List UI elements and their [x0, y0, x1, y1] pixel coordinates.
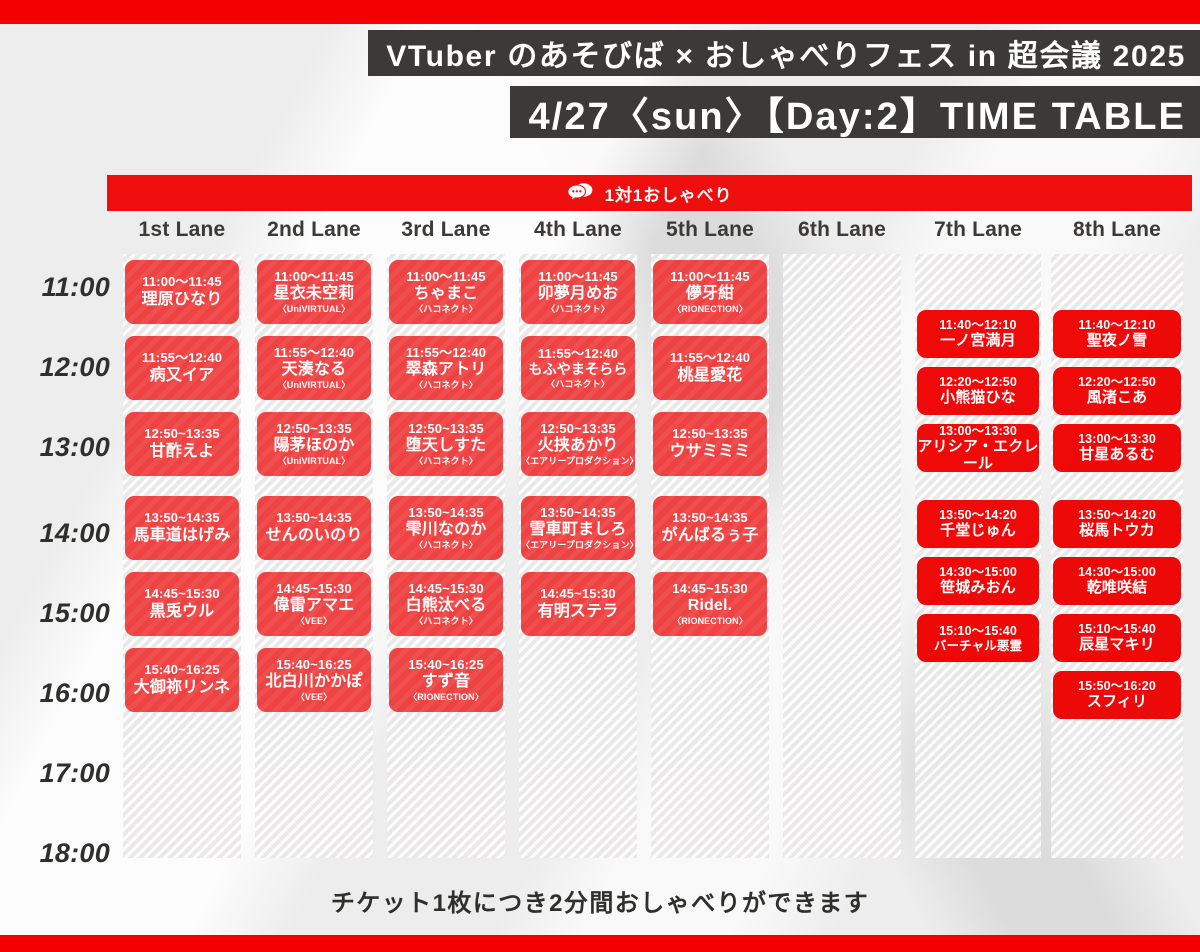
schedule-card[interactable]: 13:50~14:35雫川なのか〈ハコネクト〉: [389, 496, 503, 560]
timetable-poster: VTuber のあそびば × おしゃべりフェス in 超会議 2025 4/27…: [0, 0, 1200, 952]
card-time: 13:50～14:20: [1078, 508, 1156, 522]
lane-header-1: 1st Lane: [116, 218, 248, 250]
card-group-label: 〈RIONECTION〉: [672, 304, 748, 314]
time-axis-label: 12:00: [0, 352, 110, 383]
schedule-card[interactable]: 11:55～12:40桃星愛花: [653, 336, 767, 400]
lane-header-3: 3rd Lane: [380, 218, 512, 250]
card-time: 15:10～15:40: [939, 624, 1017, 638]
lane-header-4: 4th Lane: [512, 218, 644, 250]
card-group-label: 〈UniVIRTUAL〉: [278, 380, 351, 390]
card-group-label: 〈エアリープロダクション〉: [521, 540, 635, 550]
banner-label: 1対1おしゃべり: [605, 181, 733, 206]
card-group-label: 〈ハコネクト〉: [546, 379, 610, 389]
card-time: 12:50~13:35: [672, 427, 748, 442]
schedule-card[interactable]: 11:00～11:45星衣未空莉〈UniVIRTUAL〉: [257, 260, 371, 324]
event-title: VTuber のあそびば × おしゃべりフェス in 超会議 2025: [368, 30, 1200, 76]
lane-header-7: 7th Lane: [908, 218, 1048, 250]
timetable-grid: 11:0012:0013:0014:0015:0016:0017:0018:00…: [0, 218, 1200, 868]
card-performer-name: 偉雷アマエ: [274, 597, 355, 615]
schedule-card[interactable]: 11:40～12:10聖夜ノ雪: [1053, 310, 1181, 358]
card-performer-name: 黒兎ウル: [150, 603, 215, 621]
schedule-card[interactable]: 13:50~14:35せんのいのり: [257, 496, 371, 560]
schedule-card[interactable]: 11:00～11:45理原ひなり: [125, 260, 239, 324]
one-on-one-banner: 1対1おしゃべり: [107, 175, 1192, 211]
card-time: 13:50~14:35: [672, 511, 748, 526]
card-performer-name: がんばるぅ子: [662, 527, 759, 545]
card-performer-name: 一ノ宮満月: [940, 333, 1016, 350]
schedule-card[interactable]: 12:50~13:35ウサミミミ: [653, 412, 767, 476]
card-time: 11:55～12:40: [142, 351, 222, 366]
lane-header-5: 5th Lane: [644, 218, 776, 250]
lane-header-8: 8th Lane: [1044, 218, 1190, 250]
card-performer-name: 雫川なのか: [406, 521, 487, 539]
schedule-card[interactable]: 13:00～13:30甘星あるむ: [1053, 424, 1181, 472]
card-performer-name: スフィリ: [1087, 694, 1147, 711]
card-time: 14:30～15:00: [1078, 565, 1156, 579]
lane-column-3: 11:00～11:45ちゃまこ〈ハコネクト〉11:55～12:40翠森アトリ〈ハ…: [387, 254, 505, 858]
lane-header-2: 2nd Lane: [248, 218, 380, 250]
schedule-card[interactable]: 15:40~16:25すず音〈RIONECTION〉: [389, 648, 503, 712]
card-performer-name: 千堂じゅん: [940, 523, 1016, 540]
schedule-card[interactable]: 14:45~15:30有明ステラ: [521, 572, 635, 636]
schedule-card[interactable]: 15:10～15:40辰星マキリ: [1053, 614, 1181, 662]
card-performer-name: 堕天しすた: [406, 437, 486, 455]
card-performer-name: 雪車町ましろ: [530, 521, 627, 539]
lane-column-8: 11:40～12:10聖夜ノ雪12:20～12:50風渚こあ13:00～13:3…: [1051, 254, 1183, 858]
card-group-label: 〈ハコネクト〉: [414, 456, 478, 466]
top-red-bar: [0, 0, 1200, 24]
speech-bubble-icon: [567, 181, 597, 205]
schedule-card[interactable]: 13:50~14:35馬車道はげみ: [125, 496, 239, 560]
card-group-label: 〈ハコネクト〉: [414, 540, 478, 550]
card-time: 11:00～11:45: [538, 270, 618, 285]
card-performer-name: バーチャル悪霊: [934, 639, 1022, 653]
card-group-label: 〈RIONECTION〉: [672, 616, 748, 626]
schedule-card[interactable]: 13:00～13:30アリシア・エクレール: [917, 424, 1039, 472]
card-time: 13:50~14:35: [540, 506, 616, 521]
schedule-card[interactable]: 14:45~15:30偉雷アマエ〈VEE〉: [257, 572, 371, 636]
lane-column-2: 11:00～11:45星衣未空莉〈UniVIRTUAL〉11:55～12:40天…: [255, 254, 373, 858]
card-time: 11:00～11:45: [670, 270, 750, 285]
card-time: 12:50~13:35: [144, 427, 220, 442]
card-performer-name: ウサミミミ: [670, 443, 751, 461]
schedule-card[interactable]: 12:50~13:35堕天しすた〈ハコネクト〉: [389, 412, 503, 476]
card-performer-name: 白熊汰べる: [406, 597, 487, 615]
card-performer-name: 卯夢月めお: [538, 285, 619, 303]
card-performer-name: 理原ひなり: [142, 291, 223, 309]
time-axis-label: 17:00: [0, 758, 110, 789]
schedule-card[interactable]: 14:45~15:30Ridel.〈RIONECTION〉: [653, 572, 767, 636]
schedule-card[interactable]: 11:55～12:40病又イア: [125, 336, 239, 400]
card-time: 14:45~15:30: [144, 587, 220, 602]
card-performer-name: せんのいのり: [266, 527, 363, 545]
card-time: 15:40~16:25: [144, 663, 220, 678]
card-time: 14:45~15:30: [408, 582, 484, 597]
card-time: 13:50～14:20: [939, 508, 1017, 522]
schedule-card[interactable]: 12:50~13:35陽茅ほのか〈UniVIRTUAL〉: [257, 412, 371, 476]
schedule-card[interactable]: 13:50~14:35がんばるぅ子: [653, 496, 767, 560]
lane-column-4: 11:00～11:45卯夢月めお〈ハコネクト〉11:55～12:40もふやまそら…: [519, 254, 637, 858]
lane-column-5: 11:00～11:45儚牙紺〈RIONECTION〉11:55～12:40桃星愛…: [651, 254, 769, 858]
schedule-card[interactable]: 11:00～11:45儚牙紺〈RIONECTION〉: [653, 260, 767, 324]
card-time: 13:00～13:30: [939, 424, 1017, 438]
card-time: 11:55～12:40: [274, 346, 354, 361]
schedule-card[interactable]: 11:55～12:40翠森アトリ〈ハコネクト〉: [389, 336, 503, 400]
card-performer-name: アリシア・エクレール: [917, 439, 1039, 472]
card-performer-name: 大御祢リンネ: [134, 679, 231, 697]
card-performer-name: 風渚こあ: [1087, 390, 1148, 407]
lane-header-6: 6th Lane: [776, 218, 908, 250]
schedule-card[interactable]: 11:00～11:45卯夢月めお〈ハコネクト〉: [521, 260, 635, 324]
card-time: 14:45~15:30: [672, 582, 748, 597]
card-time: 13:00～13:30: [1078, 432, 1156, 446]
lane-column-1: 11:00～11:45理原ひなり11:55～12:40病又イア12:50~13:…: [123, 254, 241, 858]
schedule-card[interactable]: 15:40~16:25北白川かかぽ〈VEE〉: [257, 648, 371, 712]
time-axis-label: 11:00: [0, 272, 110, 303]
title-row-1: VTuber のあそびば × おしゃべりフェス in 超会議 2025: [0, 30, 1200, 76]
card-time: 15:10～15:40: [1078, 622, 1156, 636]
card-performer-name: 馬車道はげみ: [134, 527, 231, 545]
time-axis-label: 14:00: [0, 518, 110, 549]
card-performer-name: 星衣未空莉: [274, 285, 355, 303]
title-block: VTuber のあそびば × おしゃべりフェス in 超会議 2025 4/27…: [0, 30, 1200, 138]
time-axis-label: 18:00: [0, 838, 110, 869]
card-performer-name: 甘星あるむ: [1079, 447, 1155, 464]
lane-column-7: 11:40～12:10一ノ宮満月12:20～12:50小熊猫ひな13:00～13…: [915, 254, 1041, 858]
time-axis-label: 15:00: [0, 598, 110, 629]
event-subtitle: 4/27〈sun〉【Day:2】TIME TABLE: [510, 86, 1200, 138]
schedule-card[interactable]: 13:50~14:35雪車町ましろ〈エアリープロダクション〉: [521, 496, 635, 560]
lane-column-6: [783, 254, 901, 858]
card-time: 11:00～11:45: [406, 270, 486, 285]
time-axis-label: 16:00: [0, 678, 110, 709]
card-performer-name: 北白川かかぽ: [266, 673, 363, 691]
card-time: 15:40~16:25: [408, 658, 484, 673]
time-axis: 11:0012:0013:0014:0015:0016:0017:0018:00: [0, 254, 118, 858]
schedule-card[interactable]: 14:45~15:30白熊汰べる〈ハコネクト〉: [389, 572, 503, 636]
card-time: 12:20～12:50: [1078, 375, 1156, 389]
schedule-card[interactable]: 14:30～15:00笹城みおん: [917, 557, 1039, 605]
schedule-card[interactable]: 11:00～11:45ちゃまこ〈ハコネクト〉: [389, 260, 503, 324]
card-time: 12:20～12:50: [939, 375, 1017, 389]
schedule-card[interactable]: 12:20～12:50風渚こあ: [1053, 367, 1181, 415]
card-group-label: 〈VEE〉: [296, 692, 332, 702]
card-time: 11:40～12:10: [1078, 318, 1155, 332]
schedule-card[interactable]: 11:40～12:10一ノ宮満月: [917, 310, 1039, 358]
schedule-card[interactable]: 14:45~15:30黒兎ウル: [125, 572, 239, 636]
card-time: 14:30～15:00: [939, 565, 1017, 579]
card-group-label: 〈ハコネクト〉: [546, 304, 610, 314]
title-row-2: 4/27〈sun〉【Day:2】TIME TABLE: [0, 76, 1200, 138]
card-time: 11:55～12:40: [406, 346, 486, 361]
schedule-card[interactable]: 12:50~13:35火挟あかり〈エアリープロダクション〉: [521, 412, 635, 476]
schedule-card[interactable]: 15:10～15:40バーチャル悪霊: [917, 614, 1039, 662]
time-axis-label: 13:00: [0, 432, 110, 463]
card-performer-name: 天湊なる: [282, 361, 347, 379]
card-performer-name: 笹城みおん: [940, 580, 1016, 597]
schedule-card[interactable]: 11:55～12:40もふやまそらら〈ハコネクト〉: [521, 336, 635, 400]
footer-note: チケット1枚につき2分間おしゃべりができます: [0, 883, 1200, 918]
card-time: 11:00～11:45: [274, 270, 354, 285]
card-time: 13:50~14:35: [276, 511, 352, 526]
card-performer-name: 儚牙紺: [686, 285, 734, 303]
card-group-label: 〈RIONECTION〉: [408, 692, 484, 702]
card-time: 13:50~14:35: [408, 506, 484, 521]
schedule-card[interactable]: 13:50～14:20桜馬トウカ: [1053, 500, 1181, 548]
card-group-label: 〈ハコネクト〉: [414, 616, 478, 626]
card-time: 14:45~15:30: [276, 582, 352, 597]
card-group-label: 〈ハコネクト〉: [414, 380, 478, 390]
schedule-card[interactable]: 13:50～14:20千堂じゅん: [917, 500, 1039, 548]
card-performer-name: 陽茅ほのか: [274, 437, 355, 455]
schedule-card[interactable]: 11:55～12:40天湊なる〈UniVIRTUAL〉: [257, 336, 371, 400]
card-time: 11:00～11:45: [142, 275, 222, 290]
card-group-label: 〈UniVIRTUAL〉: [278, 304, 351, 314]
card-time: 11:40～12:10: [939, 318, 1016, 332]
schedule-card[interactable]: 12:20～12:50小熊猫ひな: [917, 367, 1039, 415]
schedule-card[interactable]: 15:50～16:20スフィリ: [1053, 671, 1181, 719]
card-group-label: 〈VEE〉: [296, 616, 332, 626]
card-time: 12:50~13:35: [408, 422, 484, 437]
schedule-card[interactable]: 12:50~13:35甘酢えよ: [125, 412, 239, 476]
card-performer-name: 火挟あかり: [538, 437, 619, 455]
card-time: 12:50~13:35: [540, 422, 616, 437]
schedule-card[interactable]: 14:30～15:00乾唯咲結: [1053, 557, 1181, 605]
card-performer-name: 乾唯咲結: [1087, 580, 1148, 597]
card-time: 15:40~16:25: [276, 658, 352, 673]
card-performer-name: ちゃまこ: [414, 285, 479, 303]
card-performer-name: 翠森アトリ: [406, 361, 487, 379]
card-time: 11:55～12:40: [670, 351, 750, 366]
card-performer-name: 聖夜ノ雪: [1087, 333, 1148, 350]
card-performer-name: 桃星愛花: [678, 367, 743, 385]
card-group-label: 〈エアリープロダクション〉: [521, 456, 635, 466]
card-performer-name: 辰星マキリ: [1079, 637, 1155, 654]
schedule-card[interactable]: 15:40~16:25大御祢リンネ: [125, 648, 239, 712]
card-time: 12:50~13:35: [276, 422, 352, 437]
card-performer-name: 有明ステラ: [538, 603, 619, 621]
card-time: 14:45~15:30: [540, 587, 616, 602]
bottom-red-bar: [0, 935, 1200, 952]
card-time: 11:55～12:40: [538, 347, 618, 362]
card-time: 13:50~14:35: [144, 511, 220, 526]
card-performer-name: 桜馬トウカ: [1079, 523, 1155, 540]
card-performer-name: 小熊猫ひな: [940, 390, 1016, 407]
card-performer-name: すず音: [422, 673, 470, 691]
card-performer-name: 病又イア: [150, 367, 215, 385]
card-performer-name: Ridel.: [688, 597, 733, 615]
card-time: 15:50～16:20: [1078, 679, 1156, 693]
card-group-label: 〈UniVIRTUAL〉: [278, 456, 351, 466]
card-group-label: 〈ハコネクト〉: [414, 304, 478, 314]
card-performer-name: 甘酢えよ: [150, 443, 215, 461]
card-performer-name: もふやまそらら: [529, 362, 628, 378]
